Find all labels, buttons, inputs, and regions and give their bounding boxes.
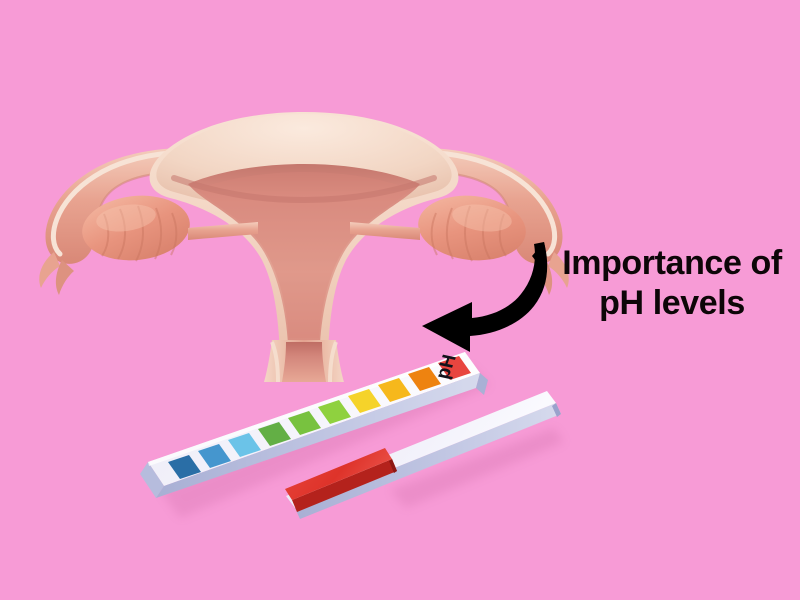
ph-strips-group: pH [120, 340, 590, 550]
curved-arrow-icon [416, 236, 566, 352]
poster-canvas: pH Importance of pH levels [0, 0, 800, 600]
headline-line-2: pH levels [548, 283, 796, 323]
headline: Importance of pH levels [548, 243, 796, 323]
headline-line-1: Importance of [548, 243, 796, 283]
